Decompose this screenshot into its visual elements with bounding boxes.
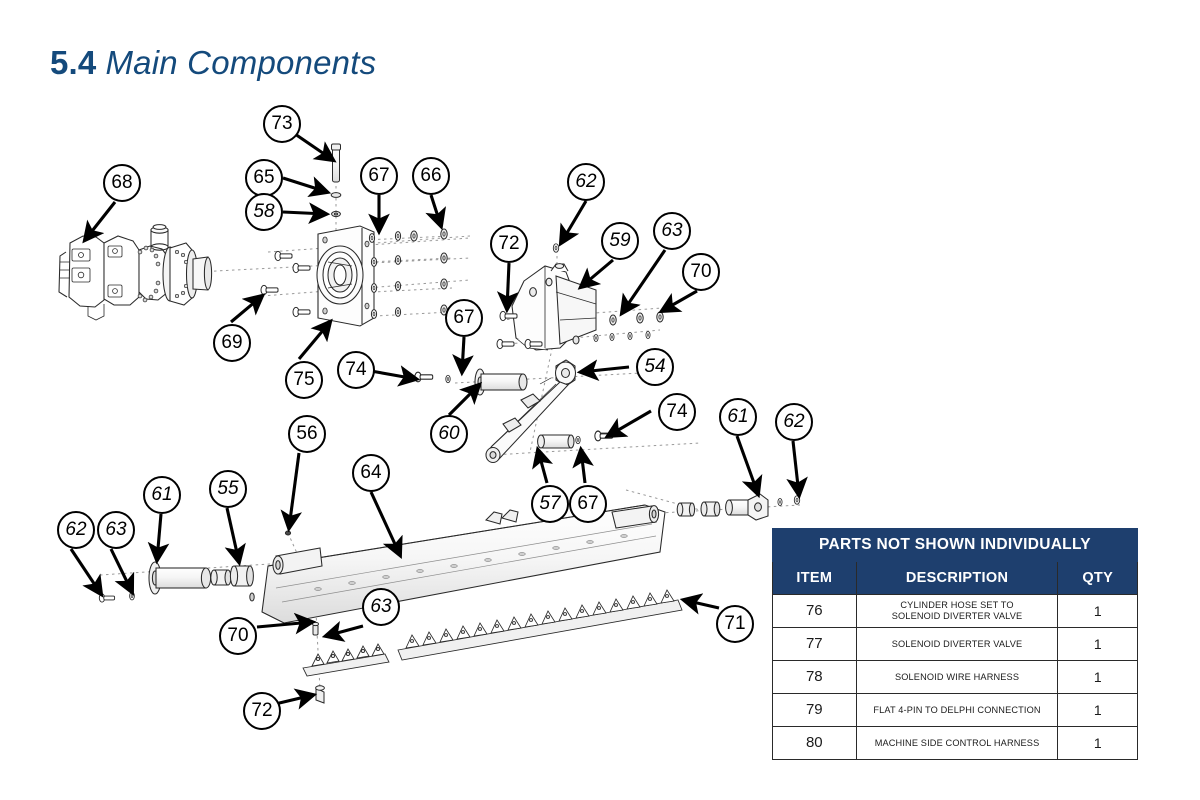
callout-bubble-64[interactable]: 64	[352, 454, 390, 492]
cell-description: SOLENOID DIVERTER VALVE	[856, 628, 1058, 661]
callout-label: 62	[65, 519, 86, 541]
callout-label: 63	[661, 220, 682, 242]
table-row: 79FLAT 4-PIN TO DELPHI CONNECTION1	[773, 694, 1138, 727]
callout-label: 63	[105, 519, 126, 541]
callout-label: 74	[666, 401, 687, 423]
cell-item: 77	[773, 628, 857, 661]
callout-bubble-61[interactable]: 61	[143, 476, 181, 514]
callout-bubble-70[interactable]: 70	[219, 617, 257, 655]
callout-label: 66	[420, 165, 441, 187]
cell-item: 79	[773, 694, 857, 727]
cell-item: 76	[773, 595, 857, 628]
cell-qty: 1	[1058, 694, 1138, 727]
callout-label: 70	[227, 625, 248, 647]
callout-label: 64	[360, 462, 381, 484]
callout-bubble-58[interactable]: 58	[245, 193, 283, 231]
callout-label: 72	[251, 700, 272, 722]
sickle-knife-bar	[398, 590, 682, 660]
parts-diagram-page: 5.4Main Components	[0, 0, 1200, 800]
callout-bubble-62[interactable]: 62	[775, 403, 813, 441]
swivel-bracket	[512, 264, 596, 350]
drive-shaft-assembly	[149, 562, 253, 594]
callout-label: 69	[221, 332, 242, 354]
column-header-item: ITEM	[773, 562, 857, 595]
callout-bubble-65[interactable]: 65	[245, 159, 283, 197]
callout-bubble-71[interactable]: 71	[716, 605, 754, 643]
table-row: 77SOLENOID DIVERTER VALVE1	[773, 628, 1138, 661]
callout-bubble-62[interactable]: 62	[57, 511, 95, 549]
callout-label: 63	[370, 596, 391, 618]
callout-bubble-57[interactable]: 57	[531, 485, 569, 523]
table-row: 76CYLINDER HOSE SET TOSOLENOID DIVERTER …	[773, 595, 1138, 628]
callout-bubble-61[interactable]: 61	[719, 398, 757, 436]
callout-bubble-60[interactable]: 60	[430, 415, 468, 453]
callout-bubble-62[interactable]: 62	[567, 163, 605, 201]
cutter-bar-beam	[262, 505, 665, 623]
callout-bubble-67[interactable]: 67	[445, 299, 483, 337]
callout-bubble-72[interactable]: 72	[490, 225, 528, 263]
callout-label: 59	[609, 230, 630, 252]
callout-bubble-59[interactable]: 59	[601, 222, 639, 260]
callout-bubble-67[interactable]: 67	[569, 485, 607, 523]
callout-bubble-70[interactable]: 70	[682, 253, 720, 291]
callout-label: 73	[271, 113, 292, 135]
cell-qty: 1	[1058, 595, 1138, 628]
callout-label: 65	[253, 167, 274, 189]
cell-item: 80	[773, 727, 857, 760]
sickle-section-short	[303, 644, 389, 676]
bearing-housing-plate	[317, 226, 374, 326]
callout-bubble-63[interactable]: 63	[362, 588, 400, 626]
table-row: 80MACHINE SIDE CONTROL HARNESS1	[773, 727, 1138, 760]
callout-label: 72	[498, 233, 519, 255]
pivot-pin-flanged	[475, 369, 527, 395]
callout-label: 55	[217, 478, 238, 500]
right-shaft-assembly	[677, 494, 800, 520]
callout-label: 58	[253, 201, 274, 223]
cell-description: FLAT 4-PIN TO DELPHI CONNECTION	[856, 694, 1058, 727]
callout-bubble-63[interactable]: 63	[97, 511, 135, 549]
callout-label: 54	[644, 356, 665, 378]
callout-label: 62	[783, 411, 804, 433]
hydraulic-motor-assembly	[59, 225, 212, 320]
callout-label: 61	[727, 406, 748, 428]
callout-bubble-72[interactable]: 72	[243, 692, 281, 730]
callout-bubble-63[interactable]: 63	[653, 212, 691, 250]
column-header-description: DESCRIPTION	[856, 562, 1058, 595]
callout-bubble-68[interactable]: 68	[103, 164, 141, 202]
callout-label: 57	[539, 493, 560, 515]
column-header-qty: QTY	[1058, 562, 1138, 595]
callout-label: 75	[293, 369, 314, 391]
callout-label: 56	[296, 423, 317, 445]
callout-label: 70	[690, 261, 711, 283]
callout-bubble-67[interactable]: 67	[360, 157, 398, 195]
table-body: 76CYLINDER HOSE SET TOSOLENOID DIVERTER …	[773, 595, 1138, 760]
callout-bubble-54[interactable]: 54	[636, 348, 674, 386]
callout-label: 67	[577, 493, 598, 515]
callout-label: 62	[575, 171, 596, 193]
callout-bubble-69[interactable]: 69	[213, 324, 251, 362]
callout-label: 68	[111, 172, 132, 194]
callout-label: 67	[368, 165, 389, 187]
cell-description: CYLINDER HOSE SET TOSOLENOID DIVERTER VA…	[856, 595, 1058, 628]
parts-not-shown-table: PARTS NOT SHOWN INDIVIDUALLY ITEM DESCRI…	[772, 528, 1138, 760]
callout-bubble-66[interactable]: 66	[412, 157, 450, 195]
callout-label: 60	[438, 423, 459, 445]
cell-description: MACHINE SIDE CONTROL HARNESS	[856, 727, 1058, 760]
cell-item: 78	[773, 661, 857, 694]
table-row: 78SOLENOID WIRE HARNESS1	[773, 661, 1138, 694]
callout-bubble-56[interactable]: 56	[288, 415, 326, 453]
callout-label: 71	[724, 613, 745, 635]
callout-label: 61	[151, 484, 172, 506]
cell-qty: 1	[1058, 661, 1138, 694]
callout-bubble-74[interactable]: 74	[658, 393, 696, 431]
callout-label: 74	[345, 359, 366, 381]
callout-bubble-75[interactable]: 75	[285, 361, 323, 399]
callout-bubble-73[interactable]: 73	[263, 105, 301, 143]
cell-qty: 1	[1058, 727, 1138, 760]
callout-bubble-55[interactable]: 55	[209, 470, 247, 508]
clevis-pin	[538, 435, 574, 448]
callout-bubble-74[interactable]: 74	[337, 351, 375, 389]
cell-description: SOLENOID WIRE HARNESS	[856, 661, 1058, 694]
table-title: PARTS NOT SHOWN INDIVIDUALLY	[773, 529, 1138, 562]
cell-qty: 1	[1058, 628, 1138, 661]
callout-label: 67	[453, 307, 474, 329]
